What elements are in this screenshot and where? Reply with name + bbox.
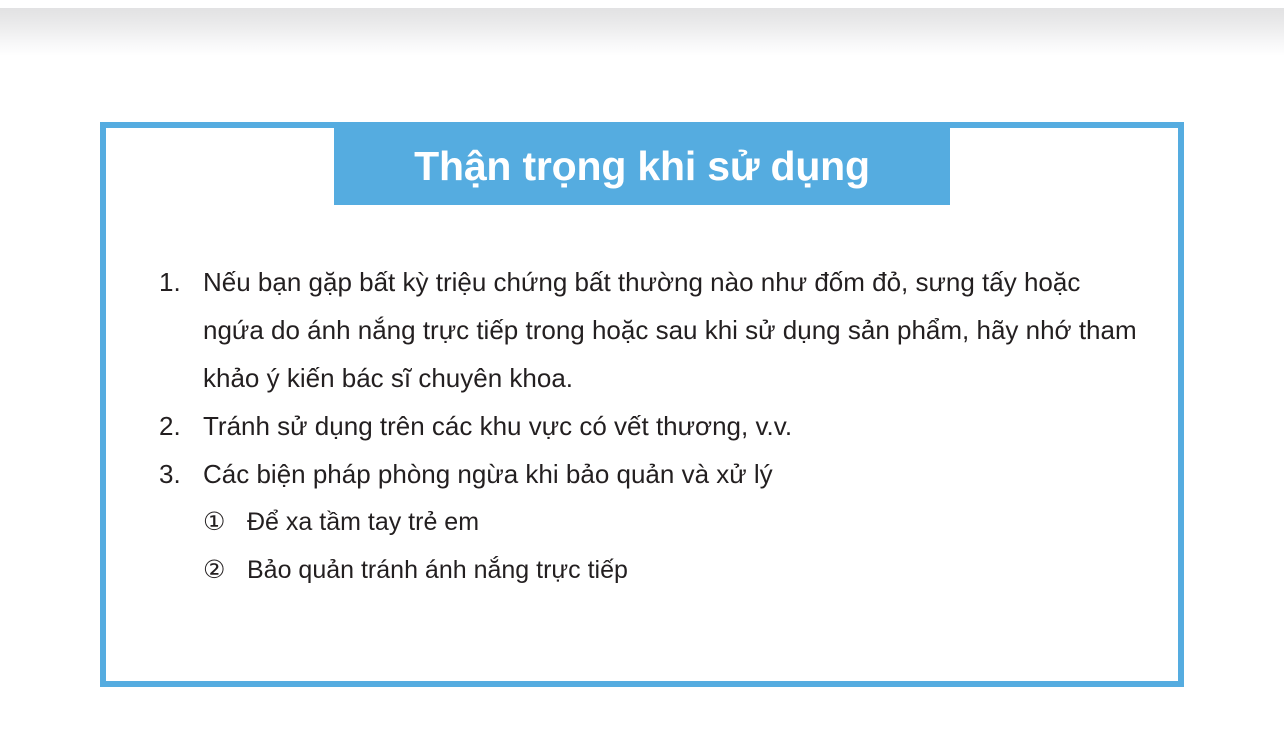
list-item: 3. Các biện pháp phòng ngừa khi bảo quản…: [155, 450, 1145, 594]
list-item-text: Nếu bạn gặp bất kỳ triệu chứng bất thườn…: [203, 258, 1145, 402]
storage-sublist: ① Để xa tầm tay trẻ em ② Bảo quản tránh …: [203, 498, 1145, 594]
sub-list-item-text: Bảo quản tránh ánh nắng trực tiếp: [247, 556, 628, 584]
precautions-list: 1. Nếu bạn gặp bất kỳ triệu chứng bất th…: [155, 258, 1145, 594]
list-item-marker: 1.: [159, 258, 195, 306]
list-item-text: Tránh sử dụng trên các khu vực có vết th…: [203, 402, 1145, 450]
top-gradient-band: [0, 8, 1284, 56]
list-item: 2. Tránh sử dụng trên các khu vực có vết…: [155, 402, 1145, 450]
sub-list-item-text: Để xa tầm tay trẻ em: [247, 508, 479, 536]
sub-list-item: ② Bảo quản tránh ánh nắng trực tiếp: [203, 546, 1145, 594]
list-item-text: Các biện pháp phòng ngừa khi bảo quản và…: [203, 450, 1145, 498]
page-title: Thận trọng khi sử dụng: [414, 146, 870, 187]
list-item-marker: 3.: [159, 450, 195, 498]
sub-list-item-marker: ②: [203, 546, 225, 594]
title-banner: Thận trọng khi sử dụng: [334, 127, 950, 205]
sub-list-item-marker: ①: [203, 498, 225, 546]
list-item: 1. Nếu bạn gặp bất kỳ triệu chứng bất th…: [155, 258, 1145, 402]
precautions-content: 1. Nếu bạn gặp bất kỳ triệu chứng bất th…: [155, 258, 1145, 594]
sub-list-item: ① Để xa tầm tay trẻ em: [203, 498, 1145, 546]
list-item-marker: 2.: [159, 402, 195, 450]
